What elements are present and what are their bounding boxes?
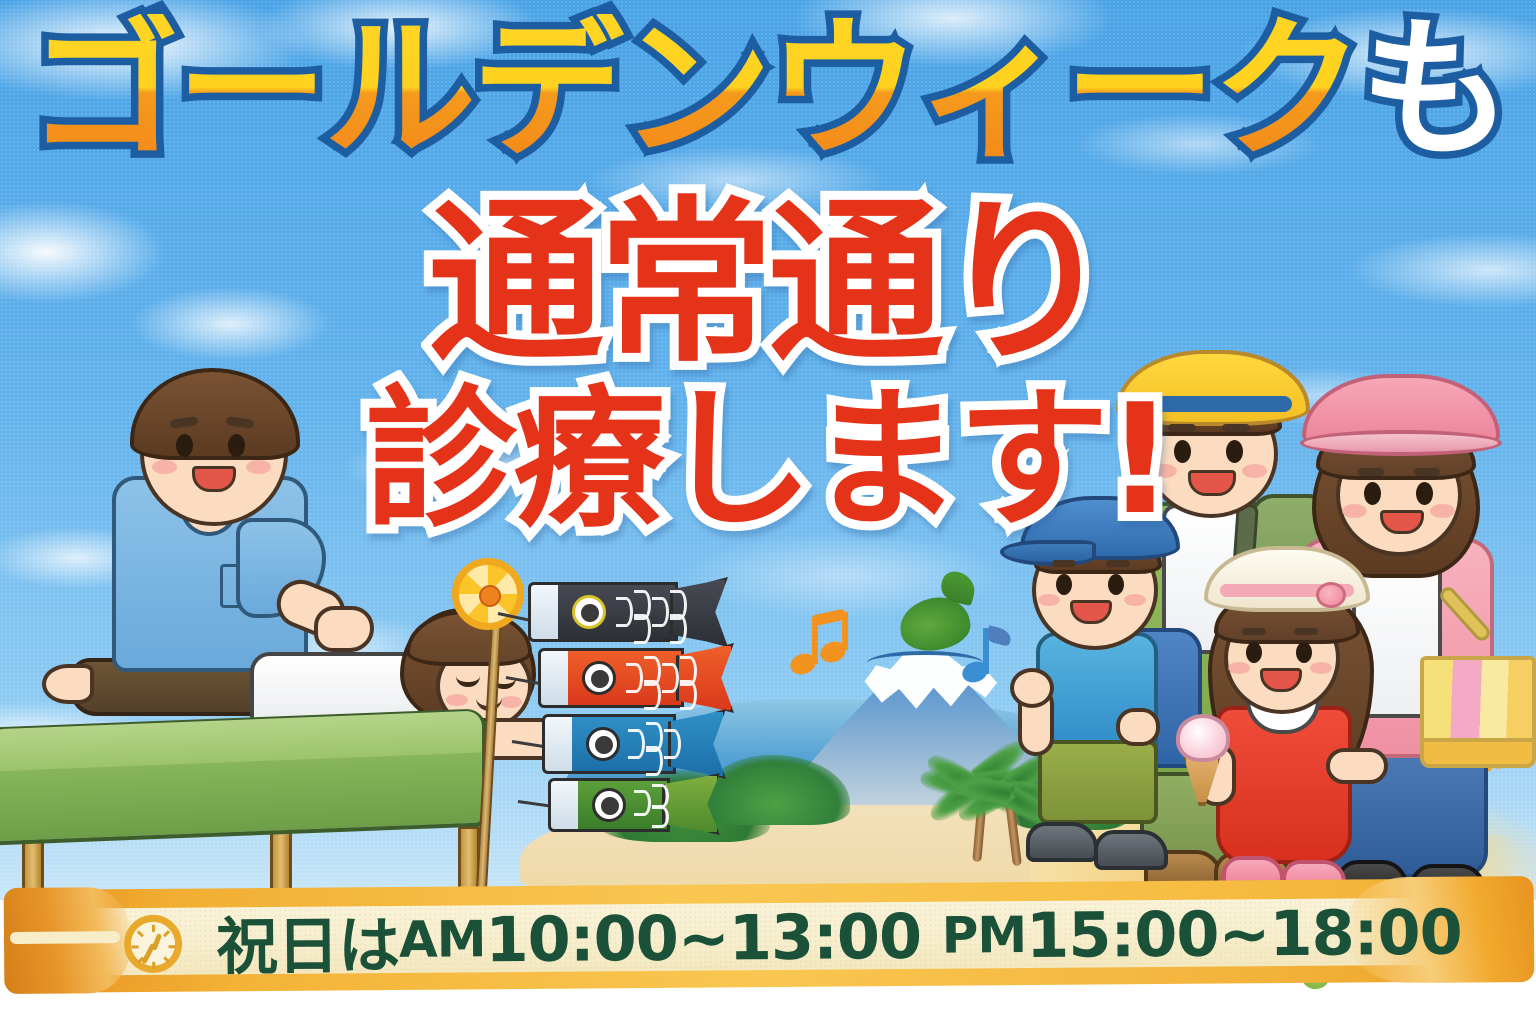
girl-eye-right [1296, 642, 1312, 663]
girl-straw-hat [1204, 546, 1370, 612]
girl-blush-right [1310, 662, 1332, 674]
carp-mouth [538, 648, 572, 708]
clock-tick [152, 962, 155, 969]
clock-tick [168, 945, 175, 948]
carp-scale [670, 614, 687, 644]
headline-yellow-text: ゴールデンウィーク [28, 14, 1360, 166]
boy-blush-right [1124, 594, 1146, 606]
hours-banner: 祝日はAM10:00~13:00 PM15:00~18:00 [38, 878, 1509, 992]
boy-shoe-right [1094, 830, 1168, 870]
mother-tote-bottom [1420, 738, 1536, 768]
carp-scale [644, 680, 661, 710]
massage-table [0, 708, 486, 845]
carp-scale [634, 614, 651, 644]
therapist-foot [42, 664, 94, 704]
carp-mouth [548, 778, 582, 832]
carp-scale [662, 663, 679, 693]
music-note-orange [790, 612, 850, 682]
banner-hours-text: 祝日はAM10:00~13:00 PM15:00~18:00 [216, 895, 1462, 979]
koinobori-carp-black [528, 582, 728, 642]
clock-tick [151, 925, 154, 932]
girl-eyebrow-right [1294, 628, 1318, 635]
carp-scale [616, 597, 633, 627]
headline: ゴールデンウィークも [0, 14, 1536, 204]
poster-canvas: ゴールデンウィークも ゴールデンウィークも 通常通り 診療します! 祝日はA [0, 0, 1536, 1024]
boy-eye-left [1056, 574, 1072, 595]
family-girl [1198, 548, 1388, 904]
koinobori-carp-red [538, 648, 734, 708]
carp-scale [628, 729, 645, 759]
clock-tick [163, 930, 170, 937]
carp-eye [572, 595, 606, 629]
banner-space [921, 899, 942, 972]
girl-eye-left [1246, 642, 1262, 663]
boy-blush-left [1038, 594, 1060, 606]
patient-blush-right [500, 696, 522, 708]
boy-shorts [1038, 740, 1158, 824]
carp-scale [664, 729, 681, 759]
koinobori-carp-blue [542, 714, 726, 774]
carp-eye [582, 661, 616, 695]
banner-am-label: AM [399, 910, 486, 969]
banner-prefix: 祝日は [216, 895, 400, 986]
girl-arm-right [1326, 748, 1388, 784]
music-note-blue [962, 628, 1008, 690]
red-heading-line-1: 通常通り [0, 196, 1536, 372]
boy-eyebrow-right [1106, 560, 1130, 567]
koinobori-carp-green [548, 778, 720, 832]
carp-scale [646, 746, 663, 776]
girl-blush-left [1228, 662, 1250, 674]
carp-scale [634, 790, 651, 816]
girl-eyebrow-left [1242, 628, 1266, 635]
carp-eye [592, 788, 626, 822]
boy-eye-right [1108, 574, 1124, 595]
carp-scale [652, 806, 669, 828]
family-boy [1022, 500, 1212, 896]
banner-morning-hours: 10:00~13:00 [485, 899, 921, 975]
red-heading-1-text: 通常通り [428, 196, 1108, 372]
carp-eye [586, 727, 620, 761]
boy-hand-on-strap [1116, 708, 1160, 746]
pinwheel [452, 558, 524, 630]
boy-eyebrow-left [1052, 560, 1076, 567]
banner-left-brush-stroke [4, 887, 133, 994]
banner-afternoon-hours: 15:00~18:00 [1026, 895, 1462, 971]
headline-white-text: も [1360, 14, 1508, 166]
carp-scale [680, 680, 697, 710]
red-heading-2-text: 診療します! [365, 384, 1170, 536]
red-heading-line-2: 診療します! [0, 384, 1536, 536]
carp-tail [662, 773, 720, 835]
clock-tick [163, 956, 170, 963]
clock-tick [131, 945, 138, 948]
boy-hand-raised [1010, 668, 1054, 708]
boy-shoe-left [1026, 822, 1098, 862]
carp-scale [626, 663, 643, 693]
banner-pm-label: PM [942, 906, 1027, 965]
carp-scale [652, 597, 669, 627]
carp-mouth [542, 714, 576, 774]
clock-tick [136, 930, 143, 937]
girl-ice-cream-scoop [1176, 714, 1230, 762]
carp-scale [652, 784, 669, 808]
clock-icon [124, 915, 182, 973]
carp-mouth [528, 582, 562, 642]
patient-blush-left [446, 694, 468, 706]
girl-hat-flower [1316, 582, 1346, 608]
